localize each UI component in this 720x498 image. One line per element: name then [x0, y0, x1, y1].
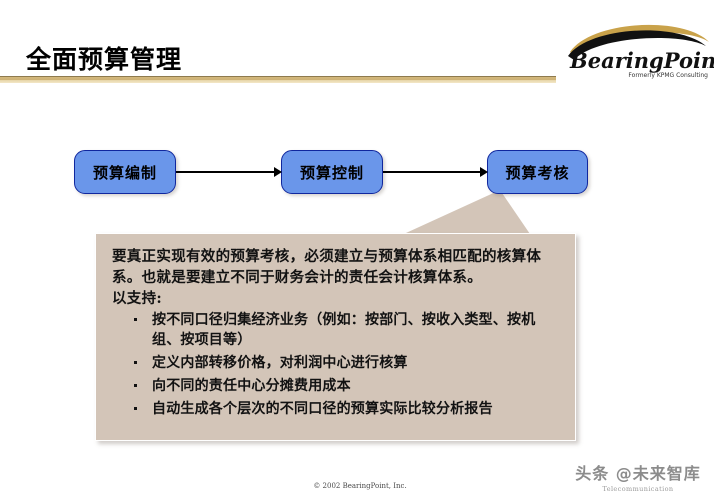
callout-paragraph: 要真正实现有效的预算考核，必须建立与预算体系相匹配的核算体系。也就是要建立不同于…: [112, 246, 561, 288]
svg-text:.: .: [707, 62, 709, 70]
bullet-dot-icon: [134, 407, 137, 410]
watermark: 头条 @未来智库 Telecommunication: [563, 460, 713, 493]
watermark-sub-text: Telecommunication: [563, 485, 713, 493]
list-item-label: 定义内部转移价格，对利润中心进行核算: [152, 355, 408, 371]
logo-tagline: Formerly KPMG Consulting: [628, 72, 708, 79]
list-item: 按不同口径归集经济业务（例如：按部门、按收入类型、按机组、按项目等）: [130, 311, 561, 351]
title-divider-rule: [0, 76, 556, 83]
callout-content: 要真正实现有效的预算考核，必须建立与预算体系相匹配的核算体系。也就是要建立不同于…: [96, 234, 575, 432]
watermark-main-text: 头条 @未来智库: [563, 460, 713, 484]
page-title: 全面预算管理: [26, 40, 182, 76]
bullet-dot-icon: [134, 384, 137, 387]
callout-support-label: 以支持:: [112, 288, 561, 309]
arrow-connector-1: [176, 166, 282, 178]
list-item-label: 自动生成各个层次的不同口径的预算实际比较分析报告: [152, 401, 493, 417]
list-item: 向不同的责任中心分摊费用成本: [130, 377, 561, 397]
logo-wordmark: BearingPoint: [569, 48, 714, 73]
list-item-label: 按不同口径归集经济业务（例如：按部门、按收入类型、按机组、按项目等）: [152, 312, 535, 348]
bullet-dot-icon: [134, 318, 137, 321]
arrow-shaft: [176, 171, 275, 173]
bullet-dot-icon: [134, 361, 137, 364]
list-item: 自动生成各个层次的不同口径的预算实际比较分析报告: [130, 400, 561, 420]
flow-box-budget-assessment[interactable]: 预算考核: [487, 150, 588, 194]
arrow-connector-2: [383, 166, 488, 178]
slide-canvas: 全面预算管理 BearingPoint . Formerly KPMG Cons…: [0, 0, 720, 498]
arrow-shaft: [383, 171, 481, 173]
flow-box-budget-preparation[interactable]: 预算编制: [74, 150, 176, 194]
callout-bullet-list: 按不同口径归集经济业务（例如：按部门、按收入类型、按机组、按项目等） 定义内部转…: [112, 311, 561, 419]
flow-box-budget-control[interactable]: 预算控制: [281, 150, 383, 194]
arrow-head-icon: [480, 167, 488, 177]
list-item-label: 向不同的责任中心分摊费用成本: [152, 378, 351, 394]
callout-box: 要真正实现有效的预算考核，必须建立与预算体系相匹配的核算体系。也就是要建立不同于…: [95, 233, 576, 441]
bearingpoint-logo: BearingPoint . Formerly KPMG Consulting: [566, 16, 714, 80]
arrow-head-icon: [274, 167, 282, 177]
list-item: 定义内部转移价格，对利润中心进行核算: [130, 354, 561, 374]
